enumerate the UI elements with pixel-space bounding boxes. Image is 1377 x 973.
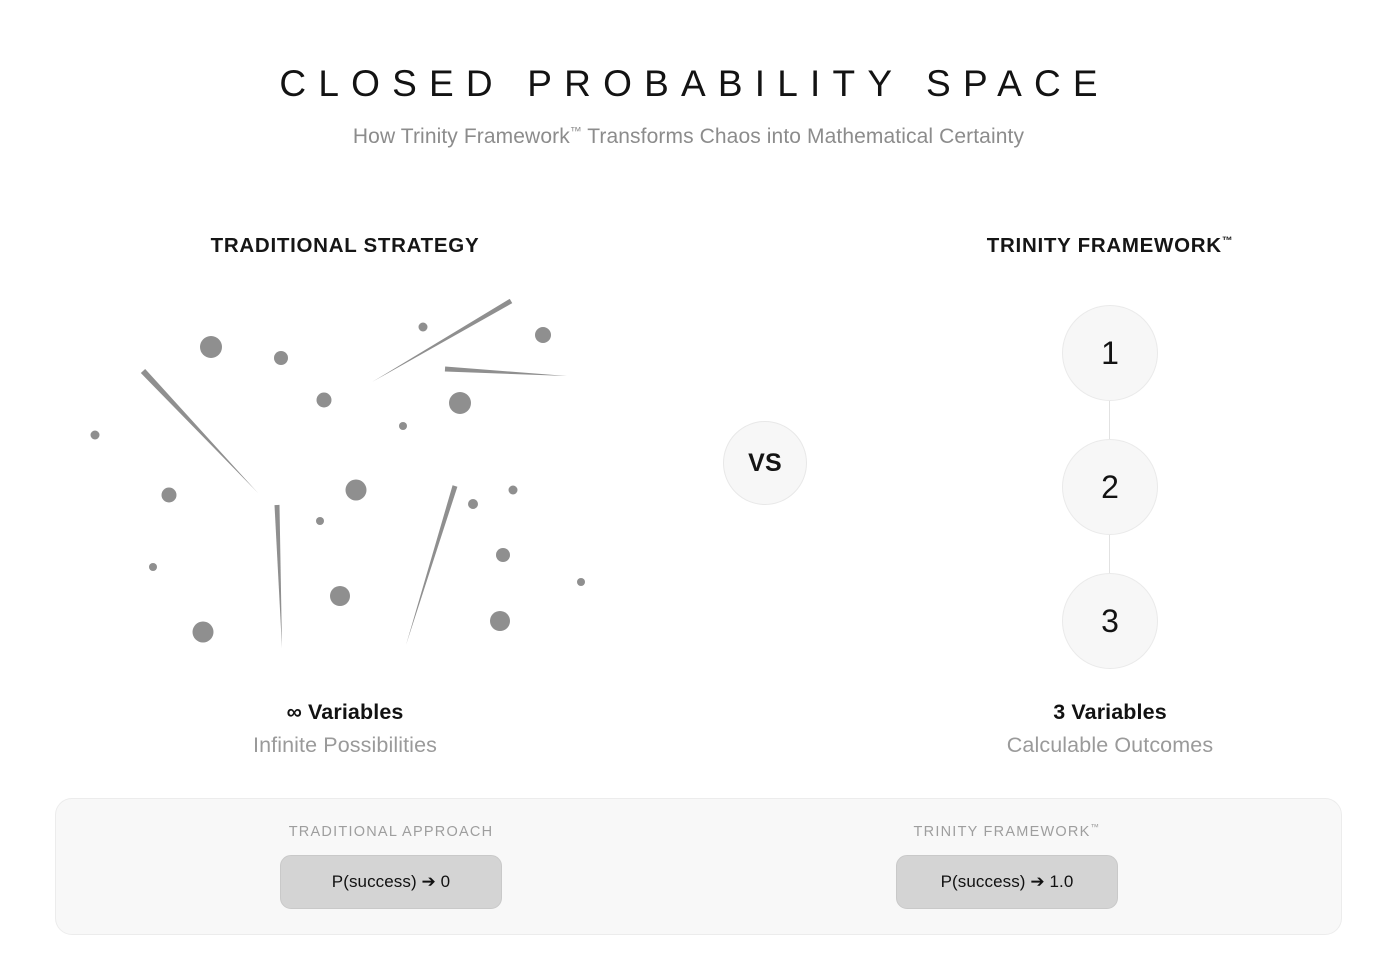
chaos-dot <box>490 611 510 631</box>
formula-box-traditional: P(success) ➔ 0 <box>280 855 502 909</box>
chaos-streak <box>445 367 567 376</box>
chaos-streak <box>372 299 512 382</box>
chaos-dot <box>317 393 332 408</box>
caption-traditional-sub: Infinite Possibilities <box>60 733 630 758</box>
chaos-dot <box>535 327 551 343</box>
chaos-dot <box>316 517 324 525</box>
panel-label-trinity: TRINITY FRAMEWORK™ <box>914 824 1101 840</box>
trademark-icon: ™ <box>1091 822 1101 832</box>
chaos-dot <box>200 336 222 358</box>
chaos-dot <box>330 586 350 606</box>
caption-traditional: ∞ Variables Infinite Possibilities <box>60 700 630 758</box>
trinity-node-1-label: 1 <box>1101 335 1119 372</box>
chaos-streak <box>275 505 282 648</box>
chaos-streak <box>406 485 457 645</box>
trademark-icon: ™ <box>570 125 582 138</box>
chaos-streak <box>141 369 258 493</box>
chaos-dot <box>419 323 428 332</box>
chaos-dot <box>496 548 510 562</box>
panel-cell-trinity: TRINITY FRAMEWORK™ P(success) ➔ 1.0 <box>782 799 1232 934</box>
chaos-dot <box>193 622 214 643</box>
chaos-dot <box>274 351 288 365</box>
chaos-dot <box>577 578 585 586</box>
panel-label-traditional: TRADITIONAL APPROACH <box>289 824 494 840</box>
trinity-connector-1-2 <box>1109 401 1110 439</box>
chaos-dot <box>162 488 177 503</box>
chaos-dot <box>399 422 407 430</box>
probability-comparison-panel: TRADITIONAL APPROACH P(success) ➔ 0 TRIN… <box>55 798 1342 935</box>
trinity-node-1[interactable]: 1 <box>1062 305 1158 401</box>
page-title: CLOSED PROBABILITY SPACE <box>0 62 1377 106</box>
column-heading-trinity-label: TRINITY FRAMEWORK <box>987 234 1222 257</box>
formula-box-trinity: P(success) ➔ 1.0 <box>896 855 1118 909</box>
trinity-connector-2-3 <box>1109 535 1110 573</box>
chaos-dot <box>91 431 100 440</box>
trinity-node-stack: 1 2 3 <box>1062 305 1158 669</box>
vs-badge-label: VS <box>748 449 782 478</box>
subtitle-text-before: How Trinity Framework <box>353 125 570 148</box>
vs-badge: VS <box>723 421 807 505</box>
page-subtitle: How Trinity Framework™ Transforms Chaos … <box>0 125 1377 149</box>
chaos-scatter-svg <box>70 290 630 670</box>
trinity-node-2-label: 2 <box>1101 469 1119 506</box>
chaos-dot <box>149 563 157 571</box>
chaos-dot <box>468 499 478 509</box>
chaos-field <box>70 290 630 670</box>
column-heading-traditional: TRADITIONAL STRATEGY <box>60 234 630 258</box>
column-heading-trinity: TRINITY FRAMEWORK™ <box>840 234 1377 258</box>
trinity-node-3[interactable]: 3 <box>1062 573 1158 669</box>
chaos-dot <box>449 392 471 414</box>
header: CLOSED PROBABILITY SPACE How Trinity Fra… <box>0 62 1377 149</box>
trinity-node-2[interactable]: 2 <box>1062 439 1158 535</box>
chaos-dot <box>346 480 367 501</box>
infographic-root: CLOSED PROBABILITY SPACE How Trinity Fra… <box>0 0 1377 973</box>
caption-trinity-main: 3 Variables <box>840 700 1377 725</box>
caption-trinity: 3 Variables Calculable Outcomes <box>840 700 1377 758</box>
panel-label-trinity-text: TRINITY FRAMEWORK <box>914 824 1091 840</box>
caption-traditional-main: ∞ Variables <box>60 700 630 725</box>
chaos-dot <box>509 486 518 495</box>
caption-trinity-sub: Calculable Outcomes <box>840 733 1377 758</box>
panel-cell-traditional: TRADITIONAL APPROACH P(success) ➔ 0 <box>166 799 616 934</box>
trinity-node-3-label: 3 <box>1101 603 1119 640</box>
subtitle-text-after: Transforms Chaos into Mathematical Certa… <box>582 125 1024 148</box>
trademark-icon: ™ <box>1222 235 1233 247</box>
